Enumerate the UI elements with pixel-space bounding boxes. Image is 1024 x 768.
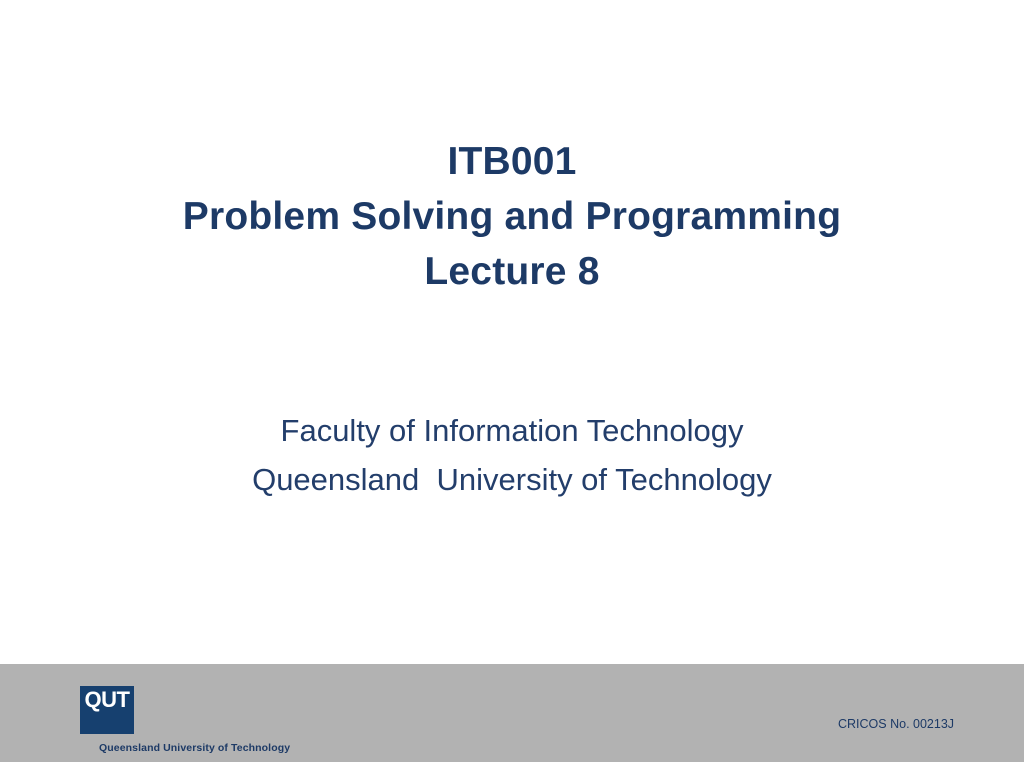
subtitle-line-faculty: Faculty of Information Technology [0, 406, 1024, 455]
qut-logo: QUT Queensland University of Technology [80, 686, 320, 758]
title-line-course-code: ITB001 [0, 134, 1024, 189]
slide-canvas: ITB001 Problem Solving and Programming L… [0, 0, 1024, 768]
slide-subtitle: Faculty of Information Technology Queens… [0, 406, 1024, 504]
qut-logo-wordmark: Queensland University of Technology [99, 742, 290, 755]
title-line-lecture: Lecture 8 [0, 244, 1024, 299]
footer-bottom-strip [0, 762, 1024, 768]
qut-logo-icon: QUT [80, 686, 134, 734]
slide-title: ITB001 Problem Solving and Programming L… [0, 134, 1024, 299]
qut-logo-mark-text: QUT [80, 687, 134, 713]
title-line-course-name: Problem Solving and Programming [0, 189, 1024, 244]
subtitle-line-university: Queensland University of Technology [0, 455, 1024, 504]
cricos-number: CRICOS No. 00213J [838, 717, 954, 732]
